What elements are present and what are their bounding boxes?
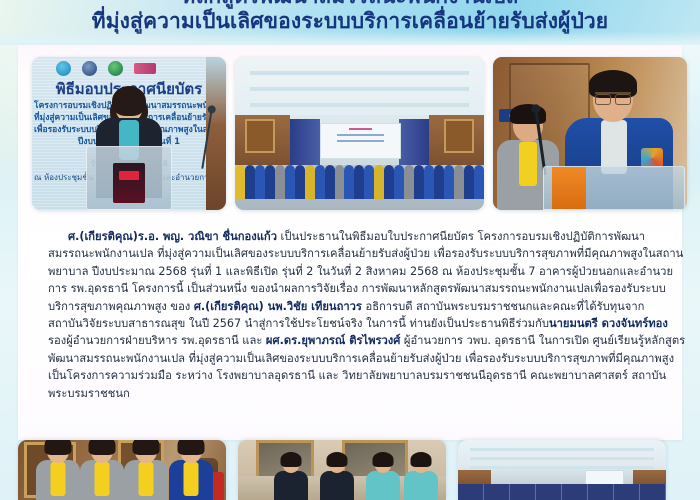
person — [245, 165, 255, 199]
hall-ceiling — [235, 57, 484, 119]
screen-title-bar — [349, 128, 373, 130]
speaker-hair-front — [112, 86, 146, 116]
person — [444, 165, 454, 199]
institute-logo-icon — [82, 61, 97, 76]
person — [474, 165, 484, 199]
audience-row — [588, 484, 614, 500]
royal-portrait-right — [444, 119, 474, 153]
person-hair — [89, 440, 116, 455]
person-jacket — [404, 471, 438, 500]
photo-conference-room-wide[interactable] — [458, 440, 666, 500]
person — [384, 165, 394, 199]
highlighted-name: ผศ.ดร.ยุพาภรณ์ ติรไพรวงศ์ — [266, 334, 400, 347]
person-shirt — [51, 462, 66, 496]
ceiling-beam — [250, 87, 469, 91]
person-jacket — [274, 471, 308, 500]
audience-row — [536, 484, 562, 500]
person — [335, 165, 345, 199]
photo-podium-female-speaker[interactable]: พิธีมอบประกาศนียบัตร โครงการอบรมเชิงปฏิบ… — [32, 57, 226, 210]
person — [454, 165, 464, 199]
header-banner: หลักสูตรพัฒนาสมรรถนะพนักงานเปล ที่มุ่งสู… — [0, 0, 700, 45]
highlighted-name: นายมนตรี ดวงจันทร์ทอง — [549, 317, 668, 330]
person — [274, 454, 308, 500]
person-jacket — [366, 471, 400, 500]
article-paragraph: ศ.(เกียรติคุณ)ร.อ. พญ. วณิขา ชื่นกองแก้ว… — [48, 228, 688, 402]
person — [285, 165, 295, 199]
person — [354, 165, 364, 199]
person-hair — [133, 440, 160, 455]
person — [315, 165, 325, 199]
secondary-person-hair — [510, 104, 546, 124]
person — [364, 165, 374, 199]
person — [344, 165, 354, 199]
person — [295, 165, 305, 199]
audience-seating — [458, 484, 666, 500]
anniversary-emblem-icon — [641, 148, 663, 168]
person-hair — [178, 440, 205, 455]
audience-row — [614, 484, 640, 500]
ceiling-beam — [470, 466, 653, 469]
person — [80, 440, 124, 500]
sponsor-logo-icon — [134, 63, 156, 74]
article-body: ศ.(เกียรติคุณ)ร.อ. พญ. วณิขา ชื่นกองแก้ว… — [36, 228, 700, 402]
person — [394, 165, 404, 199]
photo-podium-male-speaker[interactable]: อุดรธานี — [493, 57, 687, 210]
top-photo-strip: พิธีมอบประกาศนียบัตร โครงการอบรมเชิงปฏิบ… — [18, 57, 682, 222]
person — [235, 165, 245, 199]
acrylic-podium — [543, 166, 685, 210]
ceiling-beam — [250, 103, 469, 107]
person — [265, 165, 275, 199]
person — [124, 440, 168, 500]
photo-group-ceremony-hall[interactable] — [235, 57, 484, 210]
news-card-page: หลักสูตรพัฒนาสมรรถนะพนักงานเปล ที่มุ่งสู… — [0, 0, 700, 500]
highlighted-name: ศ.(เกียรติคุณ) นพ.วิชัย เทียนถาวร — [194, 300, 362, 313]
secondary-person-shirt — [519, 142, 537, 186]
audience-row — [484, 484, 510, 500]
person — [414, 165, 424, 199]
highlighted-name: ศ.(เกียรติคุณ)ร.อ. พญ. วณิขา ชื่นกองแก้ว — [68, 230, 277, 243]
photo-staff-group-yellow-uniform[interactable] — [18, 440, 226, 500]
eyeglasses-icon — [595, 92, 631, 103]
person-hair — [411, 452, 432, 467]
person — [404, 454, 438, 500]
person — [305, 165, 315, 199]
ceiling-beam — [470, 457, 653, 460]
person-hair — [281, 452, 302, 467]
audience-row — [458, 484, 484, 500]
screen-text-bar — [337, 140, 383, 142]
podium-front-plate — [113, 163, 145, 203]
header-title-line-main: ที่มุ่งสู่ความเป็นเลิศของระบบบริการเคลื่… — [0, 8, 700, 34]
hospital-logo-icon — [108, 61, 123, 76]
person — [374, 165, 384, 199]
person — [168, 440, 214, 500]
ministry-logo-icon — [56, 61, 71, 76]
person — [325, 165, 335, 199]
person — [255, 165, 265, 199]
person — [320, 454, 354, 500]
ceiling-beam — [470, 448, 653, 451]
person — [366, 454, 400, 500]
person — [424, 165, 434, 199]
person — [275, 165, 285, 199]
audience-row — [510, 484, 536, 500]
person-shirt — [95, 462, 110, 496]
podium-orange-banner — [552, 167, 586, 209]
person-hair — [327, 452, 348, 467]
person — [434, 165, 444, 199]
content-card: พิธีมอบประกาศนียบัตร โครงการอบรมเชิงปฏิบ… — [18, 45, 682, 440]
audience-row — [562, 484, 588, 500]
person-jacket — [320, 471, 354, 500]
person — [464, 165, 474, 199]
room-wall-right — [206, 57, 226, 210]
body-text-run: รองผู้อำนวยการฝ่ายบริหาร รพ.อุดรธานี และ — [48, 334, 266, 347]
audience-row — [640, 484, 666, 500]
person — [404, 165, 414, 199]
person-shirt — [184, 462, 199, 496]
bottom-photo-strip — [0, 440, 700, 500]
group-photo-row — [235, 153, 484, 199]
backdrop-logo-row — [56, 61, 156, 76]
person-hair — [373, 452, 394, 467]
person-shirt — [139, 462, 154, 496]
acrylic-podium — [86, 146, 172, 210]
ceiling-beam — [250, 71, 469, 75]
photo-executives-seated[interactable] — [238, 440, 446, 500]
person-hair — [45, 440, 72, 455]
screen-text-bar — [337, 134, 383, 136]
person — [36, 440, 80, 500]
royal-portrait-left — [245, 119, 275, 153]
